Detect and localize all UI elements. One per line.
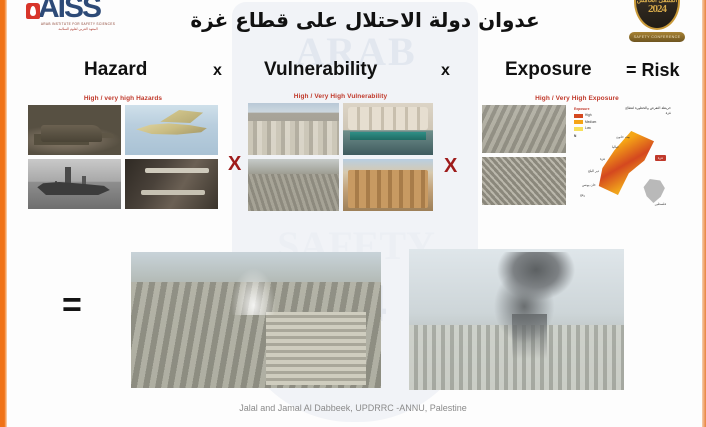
legend-label-low: Low <box>585 126 591 131</box>
vulnerability-photo-grid <box>248 103 433 211</box>
smoke-plume-tail <box>512 314 546 359</box>
smoke-plume-canvas <box>409 249 624 390</box>
multiply-separator-1: X <box>228 153 241 176</box>
map-legend-item: High <box>574 113 596 118</box>
hazard-group-label: High / very high Hazards <box>28 95 218 102</box>
badge-year: 2024 <box>636 5 678 13</box>
aiss-logo: AISS ARAB INSTITUTE FOR SAFETY SCIENCES … <box>26 0 130 36</box>
map-place-label: غزة <box>600 157 605 161</box>
equals-separator: = <box>62 288 82 322</box>
legend-label-high: High <box>585 113 592 118</box>
photo-warship <box>28 159 121 209</box>
map-inset-palestine <box>642 179 668 203</box>
photo-missiles <box>125 159 218 209</box>
vulnerability-group: High / Very High Vulnerability <box>248 93 433 211</box>
map-highlight-chip: غزة <box>655 155 666 161</box>
photo-dense-urban-housing <box>248 103 339 155</box>
hazard-group: High / very high Hazards <box>28 95 218 209</box>
aiss-logo-text: AISS <box>38 0 100 24</box>
aiss-logo-wordmark: AISS <box>26 0 130 22</box>
map-place-label: بيت حانون <box>616 135 630 139</box>
map-legend-item: Low <box>574 126 596 131</box>
photo-aerial-destruction-upper <box>482 105 566 153</box>
equation-operator-2: x <box>441 62 450 80</box>
photo-aerial-destroyed-city <box>131 252 381 388</box>
destroyed-city-canvas <box>131 252 381 388</box>
photo-fighter-jet <box>125 105 218 155</box>
photo-historic-mosque <box>343 103 434 155</box>
slide-canvas: ARAB SAFETY 24 AISS ARAB INSTITUTE FOR S… <box>0 0 706 427</box>
right-edge-accent-bar <box>702 0 706 427</box>
badge-ribbon-text: SAFETY CONFERENCE <box>629 32 685 42</box>
map-legend: Exposure High Medium Low N <box>574 107 596 139</box>
left-edge-accent-bar <box>0 0 7 427</box>
flame-icon <box>26 3 40 19</box>
map-north-arrow-label: N <box>574 134 596 139</box>
exposure-group-label: High / Very High Exposure <box>482 95 672 102</box>
photo-old-city-stone-buildings <box>343 159 434 211</box>
legend-swatch-high <box>574 114 583 118</box>
photo-rubble-neighbourhood <box>248 159 339 211</box>
map-place-label: جباليا <box>612 145 619 149</box>
map-title: خريطة التعرض والخطورة لقطاع غزة <box>625 106 671 116</box>
legend-swatch-medium <box>574 120 583 124</box>
map-legend-item: Medium <box>574 120 596 125</box>
equation-operator-1: x <box>213 62 222 80</box>
exposure-hazard-map: Exposure High Medium Low N خريط <box>572 105 672 205</box>
exposure-group: High / Very High Exposure Exposure High … <box>482 95 672 205</box>
conference-shield-badge: الملتقى الخامس 2024 SAFETY CONFERENCE <box>626 0 688 46</box>
legend-label-medium: Medium <box>585 120 596 125</box>
slide-caption: Jalal and Jamal Al Dabbeek, UPDRRC -ANNU… <box>0 403 706 413</box>
page-title: عدوان دولة الاحتلال على قطاع غزة <box>140 8 590 32</box>
photo-aerial-destruction-lower <box>482 157 566 205</box>
exposure-content: Exposure High Medium Low N خريط <box>482 105 672 205</box>
map-place-label: رفح <box>580 193 585 197</box>
risk-equation-header: Hazard x Vulnerability x Exposure = Risk <box>0 56 706 88</box>
photo-airstrike-smoke-plume <box>409 249 624 390</box>
equation-term-hazard: Hazard <box>84 59 147 81</box>
legend-swatch-low <box>574 127 583 131</box>
map-place-label: خان يونس <box>582 183 596 187</box>
equation-result-risk: = Risk <box>626 60 680 81</box>
aiss-logo-subtitle-ar: المعهد العربي لعلوم السلامة <box>26 27 130 32</box>
exposure-photo-stack <box>482 105 566 205</box>
shield-icon: الملتقى الخامس 2024 <box>634 0 680 30</box>
vulnerability-group-label: High / Very High Vulnerability <box>248 93 433 100</box>
hazard-photo-grid <box>28 105 218 209</box>
map-place-label: دير البلح <box>588 169 599 173</box>
map-inset-label: فلسطين <box>655 202 666 206</box>
photo-tank <box>28 105 121 155</box>
map-legend-title: Exposure <box>574 107 596 112</box>
smoke-wisp <box>231 268 276 314</box>
equation-term-exposure: Exposure <box>505 59 592 81</box>
equation-term-vulnerability: Vulnerability <box>264 59 377 81</box>
multiply-separator-2: X <box>444 155 457 178</box>
